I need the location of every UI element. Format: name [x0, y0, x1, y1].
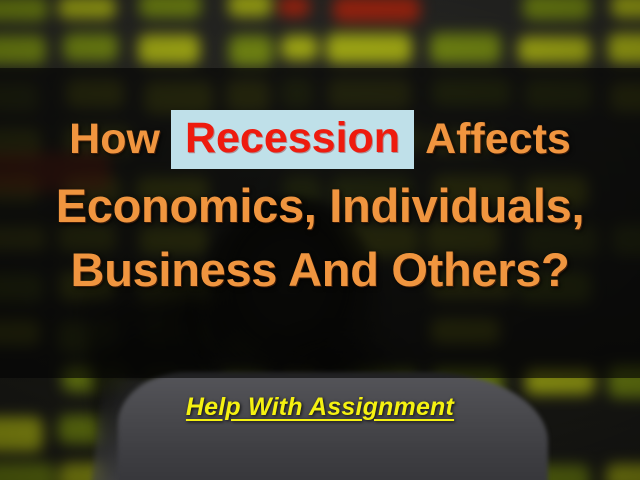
- headline-line-1: How Recession Affects: [0, 110, 640, 168]
- headline-line-3: Business And Others?: [0, 246, 640, 293]
- headline-word-recession-highlight: Recession: [171, 110, 414, 169]
- subtitle-block: Help With Assignment: [0, 393, 640, 422]
- subtitle-text: Help With Assignment: [186, 393, 454, 422]
- person-shoulder: [118, 372, 548, 480]
- headline-word-affects: Affects: [414, 118, 582, 161]
- headline-word-how: How: [58, 118, 171, 161]
- headline-block: How Recession Affects Economics, Individ…: [0, 110, 640, 293]
- slide-canvas: How Recession Affects Economics, Individ…: [0, 0, 640, 480]
- headline-line-2: Economics, Individuals,: [0, 182, 640, 229]
